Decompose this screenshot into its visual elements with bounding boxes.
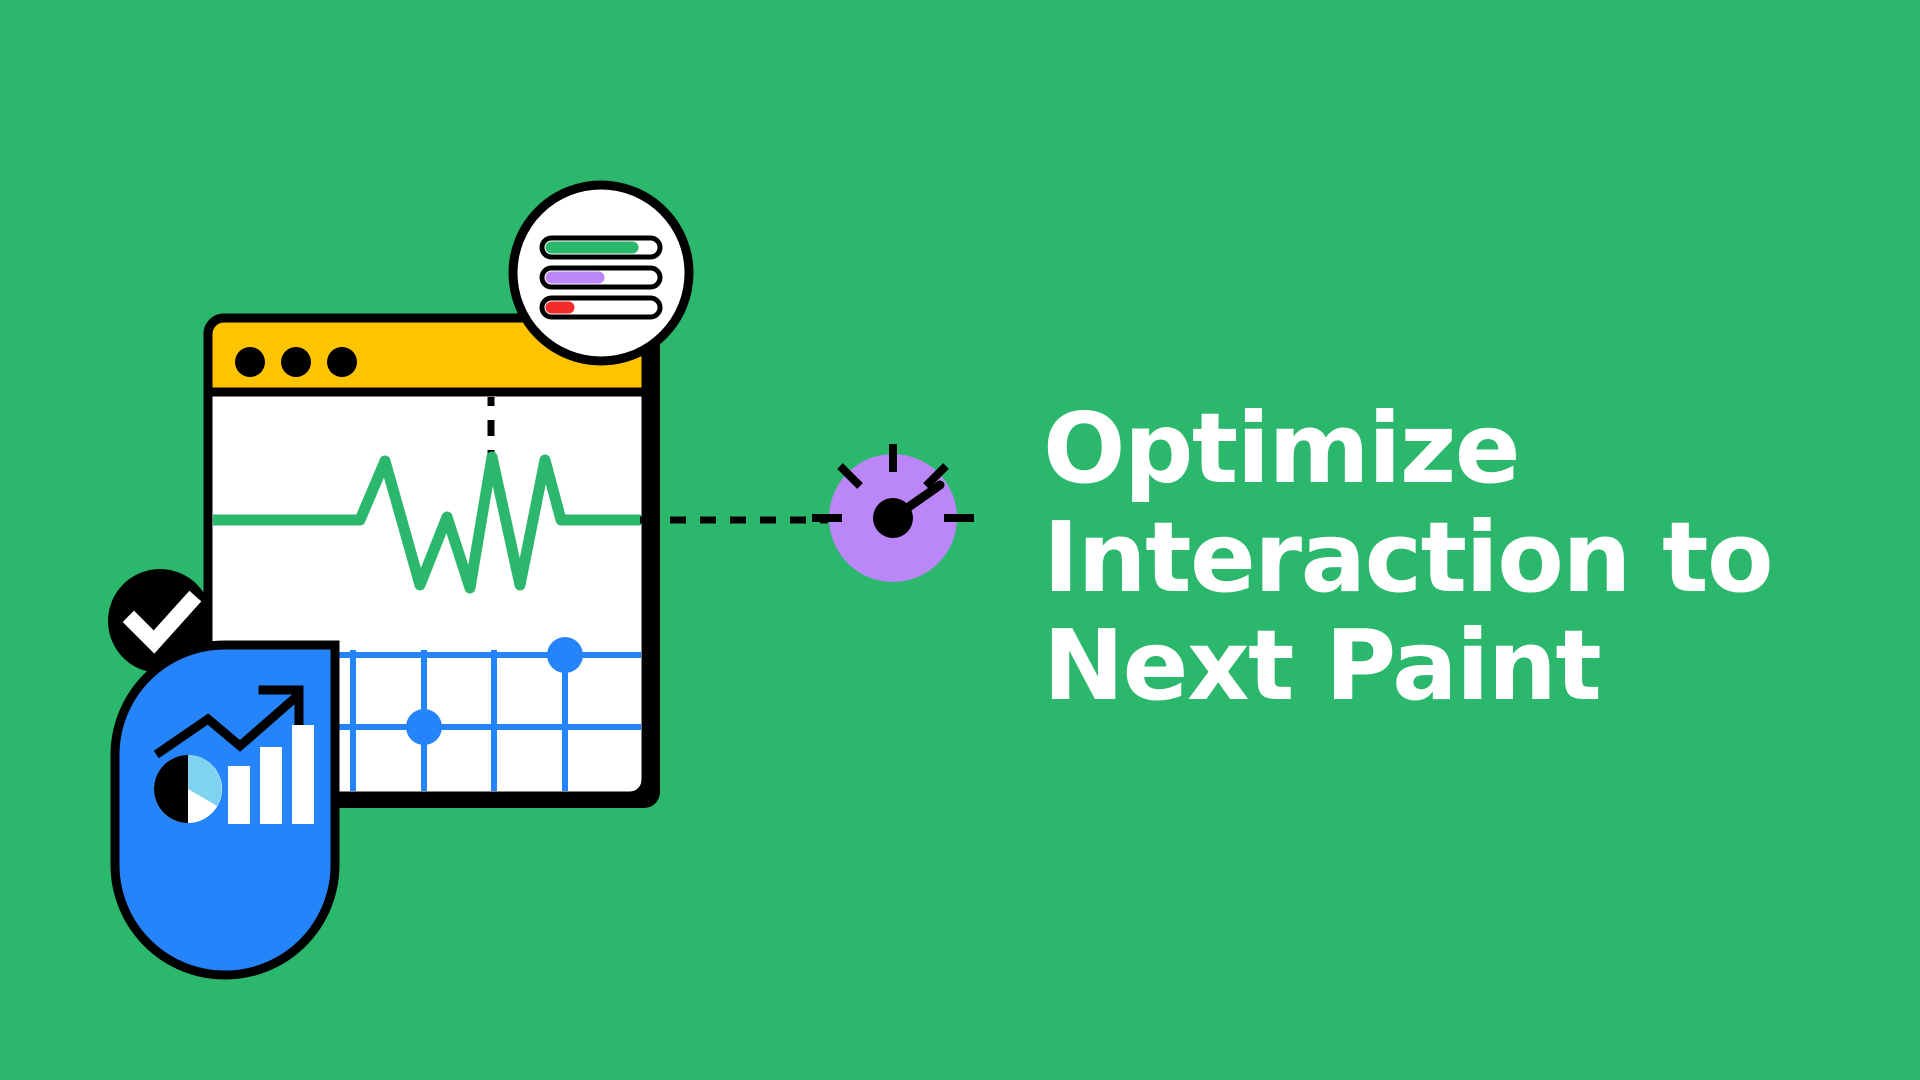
metric-bar-needs-improvement xyxy=(542,268,660,287)
pie-chart-icon xyxy=(154,755,222,823)
speed-gauge-badge xyxy=(812,444,974,582)
scatter-point xyxy=(406,709,442,745)
metric-bar-poor xyxy=(542,298,660,317)
page-title: Optimize Interaction to Next Paint xyxy=(1043,395,1863,721)
hero-banner: Optimize Interaction to Next Paint xyxy=(0,0,1920,1080)
metrics-bars-badge xyxy=(513,185,689,361)
page-title-line-1: Optimize xyxy=(1043,395,1863,504)
performance-dashboard-illustration xyxy=(0,0,1060,1080)
window-dot-minimize[interactable] xyxy=(281,347,311,377)
scatter-point xyxy=(547,637,583,673)
gauge-hub xyxy=(873,498,913,538)
page-title-line-3: Next Paint xyxy=(1043,612,1863,721)
analytics-badge xyxy=(115,645,335,975)
metric-bar-good xyxy=(542,238,660,257)
window-dot-close[interactable] xyxy=(235,347,265,377)
window-dot-maximize[interactable] xyxy=(327,347,357,377)
page-title-line-2: Interaction to xyxy=(1043,504,1863,613)
